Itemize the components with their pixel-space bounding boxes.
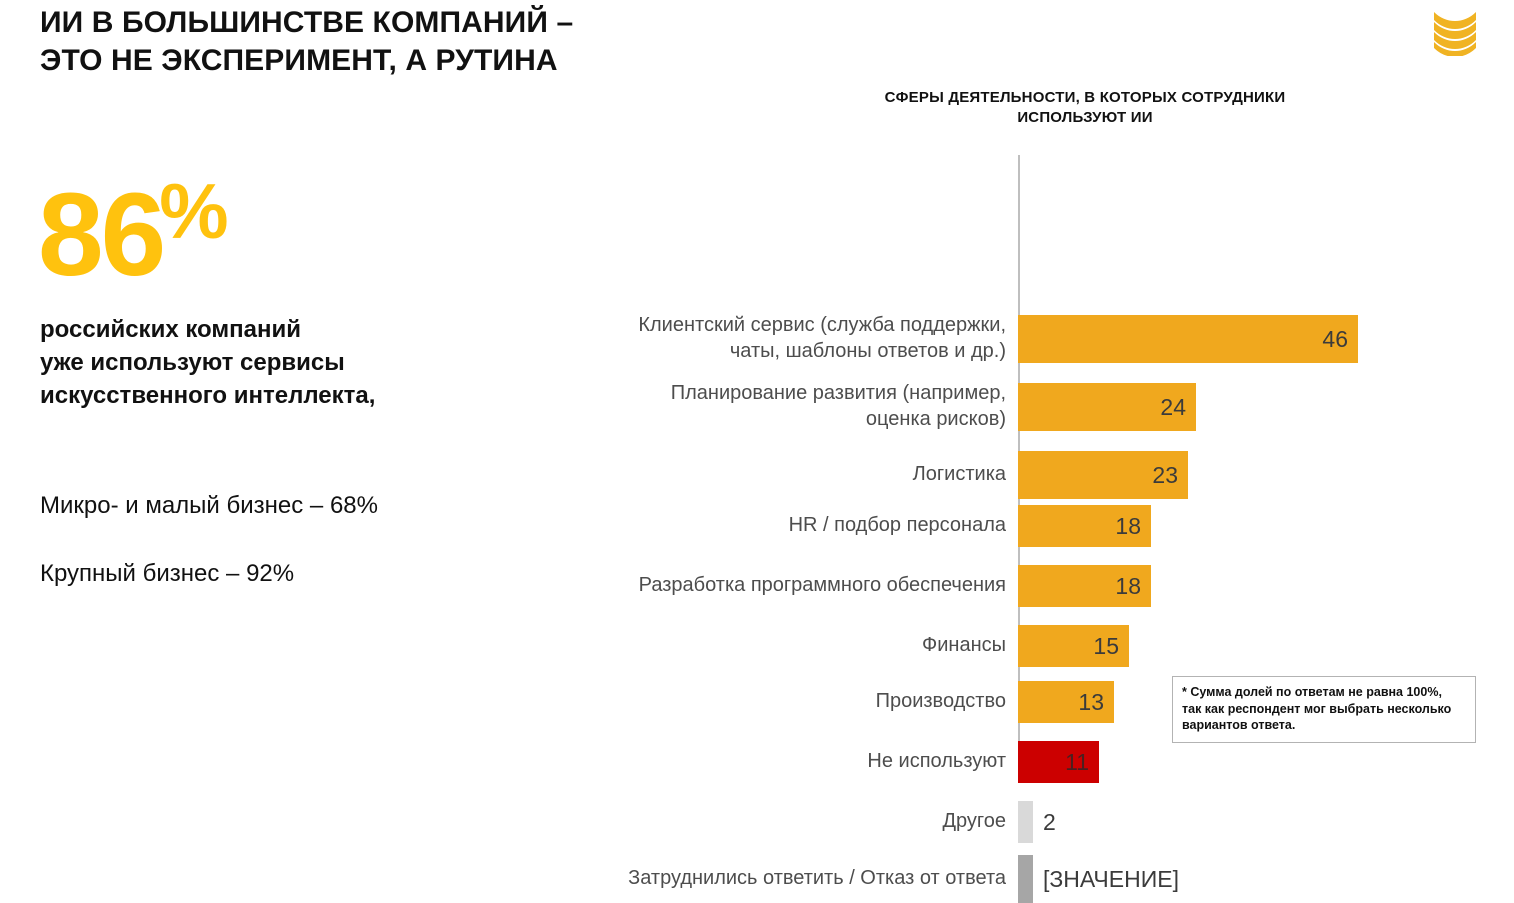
bar-segment[interactable]: 46 [1018,315,1358,363]
page-title-line-2: это не эксперимент, а рутина [40,42,780,80]
bar-segment[interactable]: 18 [1018,565,1151,607]
bar-row-label: Другое [536,809,1018,835]
bar-chart-row: Не используют11 [536,741,1436,783]
bar-chart-row: HR / подбор персонала18 [536,505,1436,547]
chart-title-line-2: ИСПОЛЬЗУЮТ ИИ [1017,109,1152,126]
headline-statistic: 86 % [38,176,226,294]
bar-track: 46 [1018,315,1436,363]
bar-track: 11 [1018,741,1436,783]
bar-row-label: Клиентский сервис (служба поддержки, чат… [536,313,1018,364]
bar-value-label: [ЗНАЧЕНИЕ] [1043,866,1179,893]
bar-value-label: 13 [1078,689,1104,716]
bar-track: 2 [1018,801,1436,843]
bar-segment[interactable]: 23 [1018,451,1188,499]
bar-segment[interactable]: 15 [1018,625,1129,667]
bar-row-label: Производство [536,689,1018,715]
bar-track: [ЗНАЧЕНИЕ] [1018,855,1436,903]
bar-value-label: 46 [1322,326,1348,353]
chart-title: СФЕРЫ ДЕЯТЕЛЬНОСТИ, В КОТОРЫХ СОТРУДНИКИ… [830,88,1340,129]
chart-footnote: * Сумма долей по ответам не равна 100%, … [1172,676,1476,743]
bar-segment[interactable]: 18 [1018,505,1151,547]
bar-row-label: Финансы [536,633,1018,659]
bar-track: 18 [1018,505,1436,547]
slide-root: ИИ в большинстве компаний – это не экспе… [0,0,1514,769]
description-line-3: искусственного интеллекта, [40,379,520,412]
bar-value-label: 18 [1115,513,1141,540]
bar-track: 23 [1018,451,1436,499]
bar-value-label: 23 [1152,462,1178,489]
bar-row-label: Затруднились ответить / Отказ от ответа [536,866,1018,892]
bar-chart-row: Затруднились ответить / Отказ от ответа[… [536,855,1436,903]
description-line-1: российских компаний [40,313,520,346]
headline-statistic-unit: % [159,172,225,250]
bar-row-label: HR / подбор персонала [536,513,1018,539]
footnote-line-1: * Сумма долей по ответам не равна 100%, [1182,684,1466,701]
bar-value-label: 2 [1043,809,1056,836]
bar-value-label: 18 [1115,573,1141,600]
bar-track: 18 [1018,565,1436,607]
bar-value-label: 15 [1093,633,1119,660]
page-title: ИИ в большинстве компаний – это не экспе… [40,4,780,81]
headline-statistic-description: российских компаний уже используют серви… [40,313,520,412]
bar-segment[interactable]: 11 [1018,741,1099,783]
bar-chart-row: Разработка программного обеспечения18 [536,565,1436,607]
bar-track: 15 [1018,625,1436,667]
bar-chart-row: Логистика23 [536,451,1436,499]
description-line-2: уже используют сервисы [40,346,520,379]
bar-chart-row: Планирование развития (например, оценка … [536,383,1436,431]
segment-large-business: Крупный бизнес – 92% [40,560,560,589]
bar-segment[interactable] [1018,855,1033,903]
bar-row-label: Разработка программного обеспечения [536,573,1018,599]
bar-row-label: Планирование развития (например, оценка … [536,381,1018,432]
bar-segment[interactable] [1018,801,1033,843]
headline-statistic-value: 86 [38,176,163,294]
bar-segment[interactable]: 24 [1018,383,1196,431]
footnote-line-3: вариантов ответа. [1182,717,1466,734]
bar-value-label: 24 [1160,394,1186,421]
bar-chart-row: Другое2 [536,801,1436,843]
footnote-line-2: так как респондент мог выбрать несколько [1182,701,1466,718]
bar-track: 24 [1018,383,1436,431]
bar-value-label: 11 [1065,749,1089,776]
segment-small-business: Микро- и малый бизнес – 68% [40,492,560,521]
beeline-logo-icon [1428,8,1482,56]
bar-segment[interactable]: 13 [1018,681,1114,723]
chart-title-line-1: СФЕРЫ ДЕЯТЕЛЬНОСТИ, В КОТОРЫХ СОТРУДНИКИ [885,89,1286,106]
bar-chart-row: Клиентский сервис (служба поддержки, чат… [536,315,1436,363]
bar-chart-row: Финансы15 [536,625,1436,667]
bar-row-label: Не используют [536,749,1018,775]
bar-row-label: Логистика [536,462,1018,488]
page-title-line-1: ИИ в большинстве компаний – [40,6,573,39]
